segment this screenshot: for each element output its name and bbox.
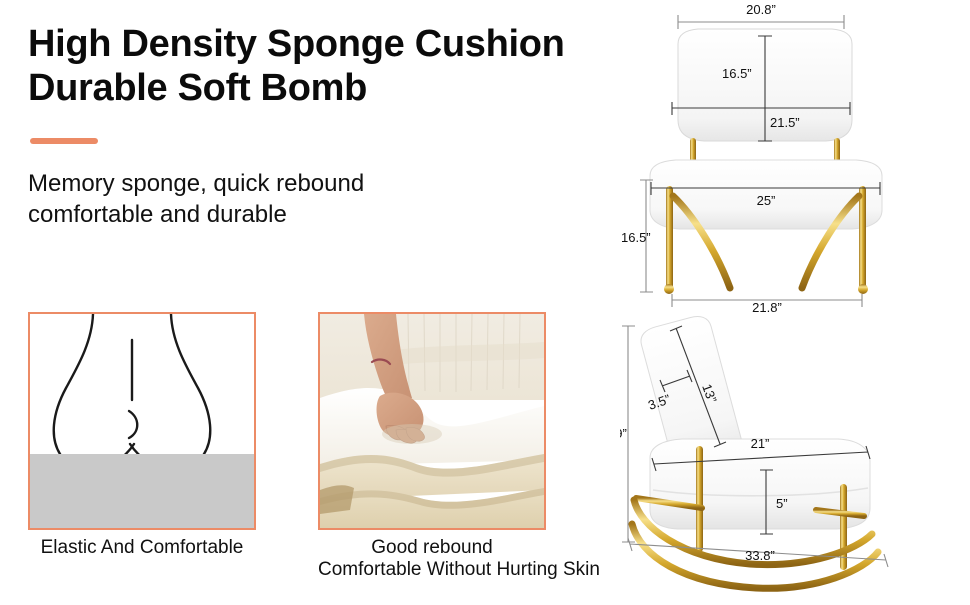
rebound-caption: Good rebound Comfortable Without Hurting… — [318, 537, 546, 582]
elastic-caption-line-1: Elastic And Comfortable — [28, 537, 256, 559]
foam-photo-frame — [318, 312, 546, 530]
side-view-diagram: 13” 3.5” 29” 21” 5” — [620, 312, 970, 600]
dim-base-width-label: 21.8” — [752, 300, 782, 312]
dim-backrest-width: 20.8” — [678, 2, 844, 29]
dim-backrest-width-label: 20.8” — [746, 2, 776, 17]
side-view-chair-illustration: 13” 3.5” 29” 21” 5” — [620, 312, 970, 600]
left-content-column: High Density Sponge Cushion Durable Soft… — [0, 0, 620, 600]
page-subtitle-line-1: Memory sponge, quick rebound — [28, 168, 528, 199]
dim-seat-depth-label: 21” — [751, 436, 770, 451]
dim-seat-thickness-label: 5” — [776, 496, 788, 511]
dim-seat-width-label: 25” — [757, 193, 776, 208]
rebound-caption-line-1: Good rebound — [318, 537, 546, 559]
dimension-diagrams-column: 20.8” 16.5” 21.5” 25” 16.5” — [620, 0, 970, 600]
page-subtitle: Memory sponge, quick rebound comfortable… — [28, 168, 528, 230]
front-view-diagram: 20.8” 16.5” 21.5” 25” 16.5” — [620, 0, 970, 312]
feature-card-elastic: Elastic And Comfortable — [28, 312, 256, 559]
page-title-line-2: Durable Soft Bomb — [28, 66, 608, 110]
page-subtitle-line-2: comfortable and durable — [28, 199, 528, 230]
rebound-caption-line-2: Comfortable Without Hurting Skin — [318, 559, 546, 581]
dim-overall-height: 29” — [620, 326, 635, 542]
dim-seat-height-label: 16.5” — [621, 230, 651, 245]
page-title-line-1: High Density Sponge Cushion — [28, 22, 608, 66]
hand-pressing-foam-photo — [320, 314, 544, 528]
dim-backrest-height-label: 16.5” — [722, 66, 752, 81]
dim-seat-height: 16.5” — [621, 180, 653, 292]
dim-base-width: 21.8” — [672, 294, 862, 312]
elastic-caption: Elastic And Comfortable — [28, 537, 256, 559]
page-title: High Density Sponge Cushion Durable Soft… — [28, 22, 608, 110]
dim-rocker-length-label: 33.8” — [745, 548, 775, 563]
front-view-chair-illustration: 20.8” 16.5” 21.5” 25” 16.5” — [620, 0, 970, 312]
feature-card-rebound: Good rebound Comfortable Without Hurting… — [318, 312, 546, 582]
cushion-ground-band — [30, 454, 254, 528]
dim-backrest-lower-width-label: 21.5” — [770, 115, 800, 130]
dim-overall-height-label: 29” — [620, 426, 627, 441]
accent-divider — [30, 138, 98, 144]
elastic-illustration-frame — [28, 312, 256, 530]
